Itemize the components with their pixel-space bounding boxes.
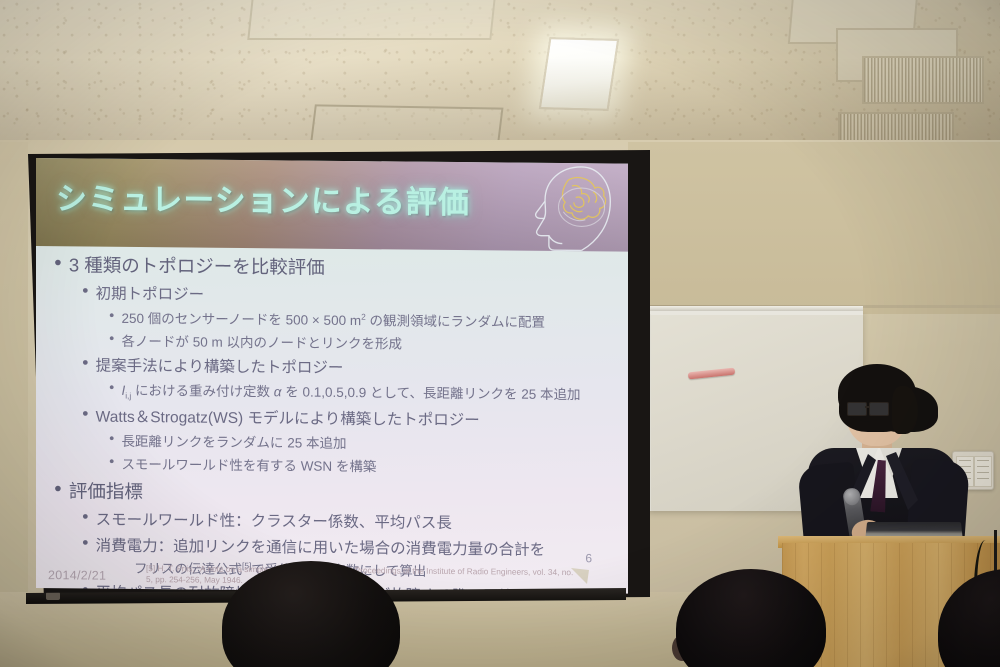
bullet-text: 初期トポロジー bbox=[96, 282, 628, 309]
bullet-dot-icon: ● bbox=[109, 456, 114, 465]
left-wall-strip bbox=[0, 142, 28, 612]
bullet-dot-icon: ● bbox=[54, 255, 62, 268]
roller-knob bbox=[46, 592, 60, 600]
bullet-level3: ● 長距離リンクをランダムに 25 本追加 bbox=[36, 429, 628, 455]
head-brain-icon bbox=[522, 159, 618, 256]
formula-alpha: α bbox=[274, 384, 282, 399]
bullet-level2: ● 提案手法により構築したトポロジー bbox=[36, 353, 628, 381]
bullet-level2: ● Watts＆Strogatz(WS) モデルにより構築したトポロジー bbox=[36, 404, 628, 432]
presentation-slide: シミュレーションによる評価 bbox=[36, 158, 628, 594]
bullet-dot-icon: ● bbox=[109, 334, 114, 343]
ceiling-shading bbox=[0, 0, 1000, 152]
bullet-dot-icon: ● bbox=[54, 481, 62, 494]
bullet-text: 評価指標 bbox=[69, 477, 628, 508]
bullet-level2: ● 初期トポロジー bbox=[36, 281, 628, 309]
bullet-level3: ● 各ノードが 50 m 以内のノードとリンクを形成 bbox=[36, 329, 628, 355]
formula-alpha-values: 0.1,0.5,0.9 bbox=[302, 385, 366, 401]
switch-column-right[interactable] bbox=[974, 456, 992, 487]
bullet-text: Ii,j における重み付け定数 α を 0.1,0.5,0.9 として、長距離リ… bbox=[121, 379, 628, 406]
bullet-dot-icon: ● bbox=[109, 433, 114, 442]
slide-page-number: 6 bbox=[585, 551, 592, 565]
bullet-dot-icon: ● bbox=[109, 311, 114, 320]
bullet-text: Watts＆Strogatz(WS) モデルにより構築したトポロジー bbox=[96, 404, 628, 431]
bullet-dot-icon: ● bbox=[82, 511, 89, 522]
slide-footer-date: 2014/2/21 bbox=[48, 568, 106, 583]
bullet-level1: ● 3 種類のトポロジーを比較評価 bbox=[36, 251, 628, 283]
bullet-text: 3 種類のトポロジーを比較評価 bbox=[69, 251, 628, 282]
presenter-hair-side bbox=[892, 386, 918, 434]
bullet-text: スモールワールド性を有する WSN を構築 bbox=[121, 453, 628, 478]
area-exponent: 2 bbox=[361, 312, 366, 322]
lecture-room-scene: シミュレーションによる評価 bbox=[0, 0, 1000, 667]
slide-title: シミュレーションによる評価 bbox=[56, 173, 470, 222]
bullet-dot-icon: ● bbox=[82, 357, 89, 368]
bullet-level2: ● スモールワールド性：クラスター係数、平均パス長 bbox=[36, 507, 628, 535]
bullet-dot-icon: ● bbox=[82, 537, 89, 548]
bullet-text: スモールワールド性：クラスター係数、平均パス長 bbox=[96, 507, 628, 534]
bullet-level3: ● 250 個のセンサーノードを 500 × 500 m2 の観測領域にランダム… bbox=[36, 306, 628, 332]
presenter-glasses-icon bbox=[847, 402, 893, 414]
bullet-dot-icon: ● bbox=[82, 408, 89, 419]
bullet-text: 各ノードが 50 m 以内のノードとリンクを形成 bbox=[121, 330, 628, 355]
slide-bullet-list: ● 3 種類のトポロジーを比較評価 ● 初期トポロジー ● 250 個のセンサー… bbox=[36, 246, 628, 594]
bullet-text: 提案手法により構築したトポロジー bbox=[96, 354, 628, 381]
glasses-lens-left bbox=[847, 402, 867, 416]
bullet-text: 長距離リンクをランダムに 25 本追加 bbox=[121, 430, 628, 455]
upper-right-wall bbox=[628, 142, 1000, 314]
bullet-level3-formula: ● Ii,j における重み付け定数 α を 0.1,0.5,0.9 として、長距… bbox=[36, 378, 628, 405]
bullet-level1: ● 評価指標 bbox=[36, 477, 628, 509]
bullet-text: 250 個のセンサーノードを 500 × 500 m2 の観測領域にランダムに配… bbox=[121, 307, 628, 332]
bullet-level3: ● スモールワールド性を有する WSN を構築 bbox=[36, 452, 628, 478]
slide-body: ● 3 種類のトポロジーを比較評価 ● 初期トポロジー ● 250 個のセンサー… bbox=[36, 246, 628, 594]
glasses-lens-right bbox=[869, 402, 889, 416]
whiteboard-marker-icon bbox=[688, 368, 735, 380]
bullet-dot-icon: ● bbox=[109, 383, 114, 392]
bullet-dot-icon: ● bbox=[82, 285, 89, 296]
formula-subscript: i,j bbox=[125, 391, 131, 401]
